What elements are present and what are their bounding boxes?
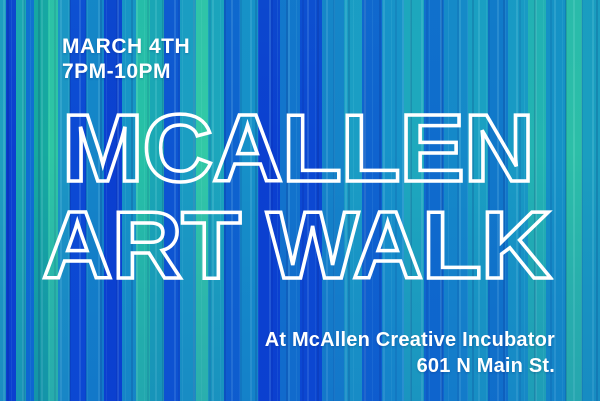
venue-name: At McAllen Creative Incubator <box>265 327 555 353</box>
event-date: MARCH 4TH <box>62 34 190 59</box>
event-time: 7PM-10PM <box>62 59 190 84</box>
poster-title: MCALLEN ART WALK <box>40 100 560 294</box>
event-datetime: MARCH 4TH 7PM-10PM <box>62 34 190 84</box>
poster-content: MARCH 4TH 7PM-10PM MCALLEN ART WALK At M… <box>0 0 600 401</box>
page-title-line-one: MCALLEN <box>62 100 570 197</box>
venue-info: At McAllen Creative Incubator 601 N Main… <box>265 327 555 379</box>
event-poster: MARCH 4TH 7PM-10PM MCALLEN ART WALK At M… <box>0 0 600 401</box>
page-title-line-two: ART WALK <box>42 197 570 294</box>
venue-address: 601 N Main St. <box>265 353 555 379</box>
